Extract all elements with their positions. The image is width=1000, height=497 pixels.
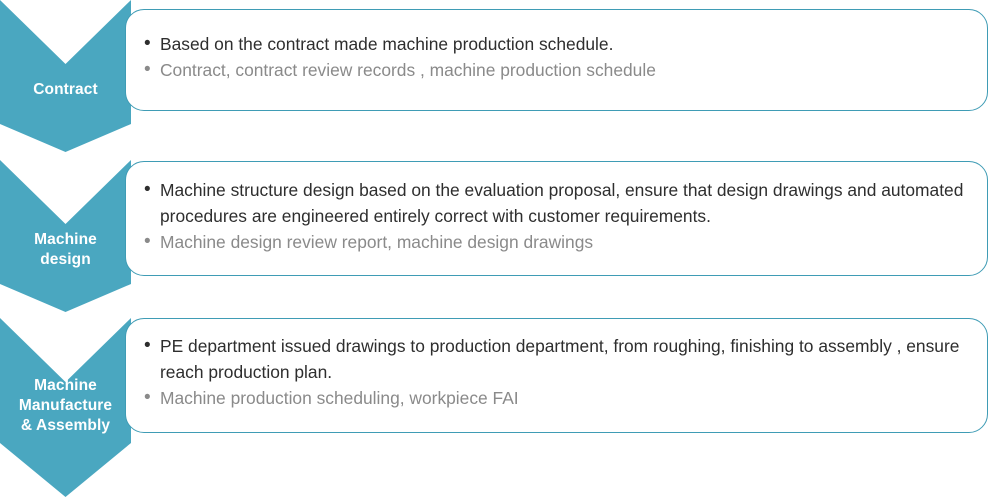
process-stage-machine-manufacture-assembly: Machine Manufacture & Assembly • PE depa… [0,318,1000,497]
bullet-item: • Machine production scheduling, workpie… [144,385,971,411]
chevron-shape-icon [0,318,131,497]
content-box-machine-design: • Machine structure design based on the … [125,161,988,276]
chevron-machine-design[interactable]: Machine design [0,160,131,312]
bullet-item: • Contract, contract review records , ma… [144,57,971,83]
bullet-point-icon: • [144,333,160,359]
bullet-point-icon: • [144,229,160,255]
chevron-contract[interactable]: Contract [0,0,131,152]
bullet-list-machine-manufacture-assembly: • PE department issued drawings to produ… [144,333,971,411]
bullet-point-icon: • [144,385,160,411]
chevron-shape-icon [0,0,131,152]
bullet-text: Contract, contract review records , mach… [160,57,971,83]
bullet-item: • PE department issued drawings to produ… [144,333,971,385]
bullet-text: Based on the contract made machine produ… [160,31,971,57]
chevron-shape-icon [0,160,131,312]
process-flow-diagram: Contract • Based on the contract made ma… [0,0,1000,497]
process-stage-contract: Contract • Based on the contract made ma… [0,0,1000,152]
content-box-contract: • Based on the contract made machine pro… [125,9,988,111]
bullet-text: PE department issued drawings to product… [160,333,971,385]
bullet-list-contract: • Based on the contract made machine pro… [144,31,971,83]
bullet-point-icon: • [144,57,160,83]
bullet-item: • Machine design review report, machine … [144,229,971,255]
bullet-text: Machine production scheduling, workpiece… [160,385,971,411]
bullet-list-machine-design: • Machine structure design based on the … [144,177,971,255]
process-stage-machine-design: Machine design • Machine structure desig… [0,160,1000,312]
bullet-item: • Based on the contract made machine pro… [144,31,971,57]
bullet-text: Machine design review report, machine de… [160,229,971,255]
bullet-item: • Machine structure design based on the … [144,177,971,229]
chevron-machine-manufacture-assembly[interactable]: Machine Manufacture & Assembly [0,318,131,497]
bullet-text: Machine structure design based on the ev… [160,177,971,229]
bullet-point-icon: • [144,177,160,203]
content-box-machine-manufacture-assembly: • PE department issued drawings to produ… [125,318,988,433]
bullet-point-icon: • [144,31,160,57]
